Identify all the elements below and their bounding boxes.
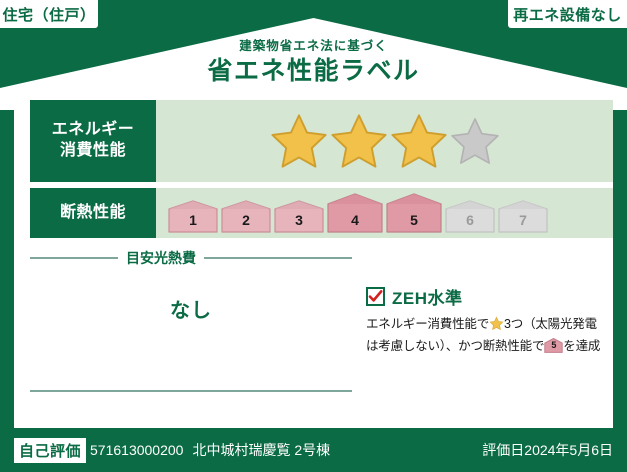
star-icon-filled xyxy=(270,112,328,170)
star-icon-inline xyxy=(489,316,504,337)
zeh-title-line: ZEH水準 xyxy=(366,284,606,309)
insulation-badge-7: 7 xyxy=(498,200,548,233)
evaluation-date: 評価日2024年5月6日 xyxy=(482,440,613,460)
self-evaluation-badge: 自己評価 xyxy=(14,438,86,463)
star-icon-filled xyxy=(330,112,388,170)
star-strip xyxy=(270,112,500,170)
insulation-badge-6: 6 xyxy=(445,200,495,233)
zeh-desc-part2: 3つ（太陽光発電 xyxy=(504,317,597,331)
inline-badge-number: 5 xyxy=(544,339,563,353)
tag-renewable-equipment: 再エネ設備なし xyxy=(508,0,627,28)
house-badge-icon xyxy=(445,200,495,233)
zeh-title: ZEH水準 xyxy=(392,284,463,309)
energy-performance-label: エネルギー 消費性能 xyxy=(30,100,156,182)
insulation-performance-label: 断熱性能 xyxy=(30,188,156,238)
insulation-badge-1: 1 xyxy=(168,200,218,233)
footer-bar: 自己評価 571613000200 北中城村瑞慶覧 2号棟 評価日2024年5月… xyxy=(0,428,627,472)
zeh-description: エネルギー消費性能で3つ（太陽光発電は考慮しない）、かつ断熱性能で5を達成 xyxy=(366,315,606,357)
zeh-desc-part4: を達成 xyxy=(563,339,600,353)
energy-performance-label: 住宅（住戸） 再エネ設備なし 建築物省エネ法に基づく 省エネ性能ラベル エネルギ… xyxy=(0,0,627,472)
house-badge-icon xyxy=(498,200,548,233)
house-badge-icon xyxy=(386,193,442,233)
star-icon-empty xyxy=(450,116,500,166)
insulation-badge-3: 3 xyxy=(274,200,324,233)
insulation-badge-4: 4 xyxy=(327,193,383,233)
utility-cost-block: 目安光熱費 なし xyxy=(30,248,352,323)
label-card: エネルギー 消費性能 断熱性能 1234567 目安光熱費 なし xyxy=(14,88,613,428)
zeh-block: ZEH水準 エネルギー消費性能で3つ（太陽光発電は考慮しない）、かつ断熱性能で5… xyxy=(366,284,606,357)
label-title-block: 建築物省エネ法に基づく 省エネ性能ラベル xyxy=(0,40,627,84)
insulation-rating: 1234567 xyxy=(156,188,613,238)
utility-cost-bottom-rule xyxy=(30,390,352,392)
insulation-performance-row: 断熱性能 1234567 xyxy=(30,188,613,238)
insulation-badge-icon-inline: 5 xyxy=(544,338,563,353)
house-badge-icon xyxy=(327,193,383,233)
heading-rule-right xyxy=(204,257,352,259)
page-title: 省エネ性能ラベル xyxy=(0,58,627,84)
insulation-badge-5: 5 xyxy=(386,193,442,233)
utility-cost-value: なし xyxy=(30,294,352,323)
house-badge-icon xyxy=(221,200,271,233)
utility-cost-heading: 目安光熱費 xyxy=(30,248,352,268)
heading-rule-left xyxy=(30,257,118,259)
property-name: 北中城村瑞慶覧 2号棟 xyxy=(192,440,330,460)
utility-cost-heading-text: 目安光熱費 xyxy=(126,248,196,268)
energy-performance-row: エネルギー 消費性能 xyxy=(30,100,613,182)
energy-label-line1: エネルギー xyxy=(52,120,135,141)
energy-star-rating xyxy=(156,100,613,182)
title-subtitle: 建築物省エネ法に基づく xyxy=(0,40,627,53)
star-icon-filled xyxy=(390,112,448,170)
insulation-badge-2: 2 xyxy=(221,200,271,233)
check-icon xyxy=(368,289,383,304)
house-badge-icon xyxy=(274,200,324,233)
house-badge-icon xyxy=(168,200,218,233)
insulation-badge-strip: 1234567 xyxy=(168,193,548,233)
insulation-label-text: 断熱性能 xyxy=(60,203,126,224)
energy-label-line2: 消費性能 xyxy=(60,141,126,162)
zeh-checkbox[interactable] xyxy=(366,287,385,306)
tag-dwelling-type: 住宅（住戸） xyxy=(0,0,98,28)
zeh-desc-part3: は考慮しない）、かつ断熱性能で xyxy=(366,339,544,353)
zeh-desc-part1: エネルギー消費性能で xyxy=(366,317,489,331)
evaluation-id: 571613000200 xyxy=(90,442,183,458)
